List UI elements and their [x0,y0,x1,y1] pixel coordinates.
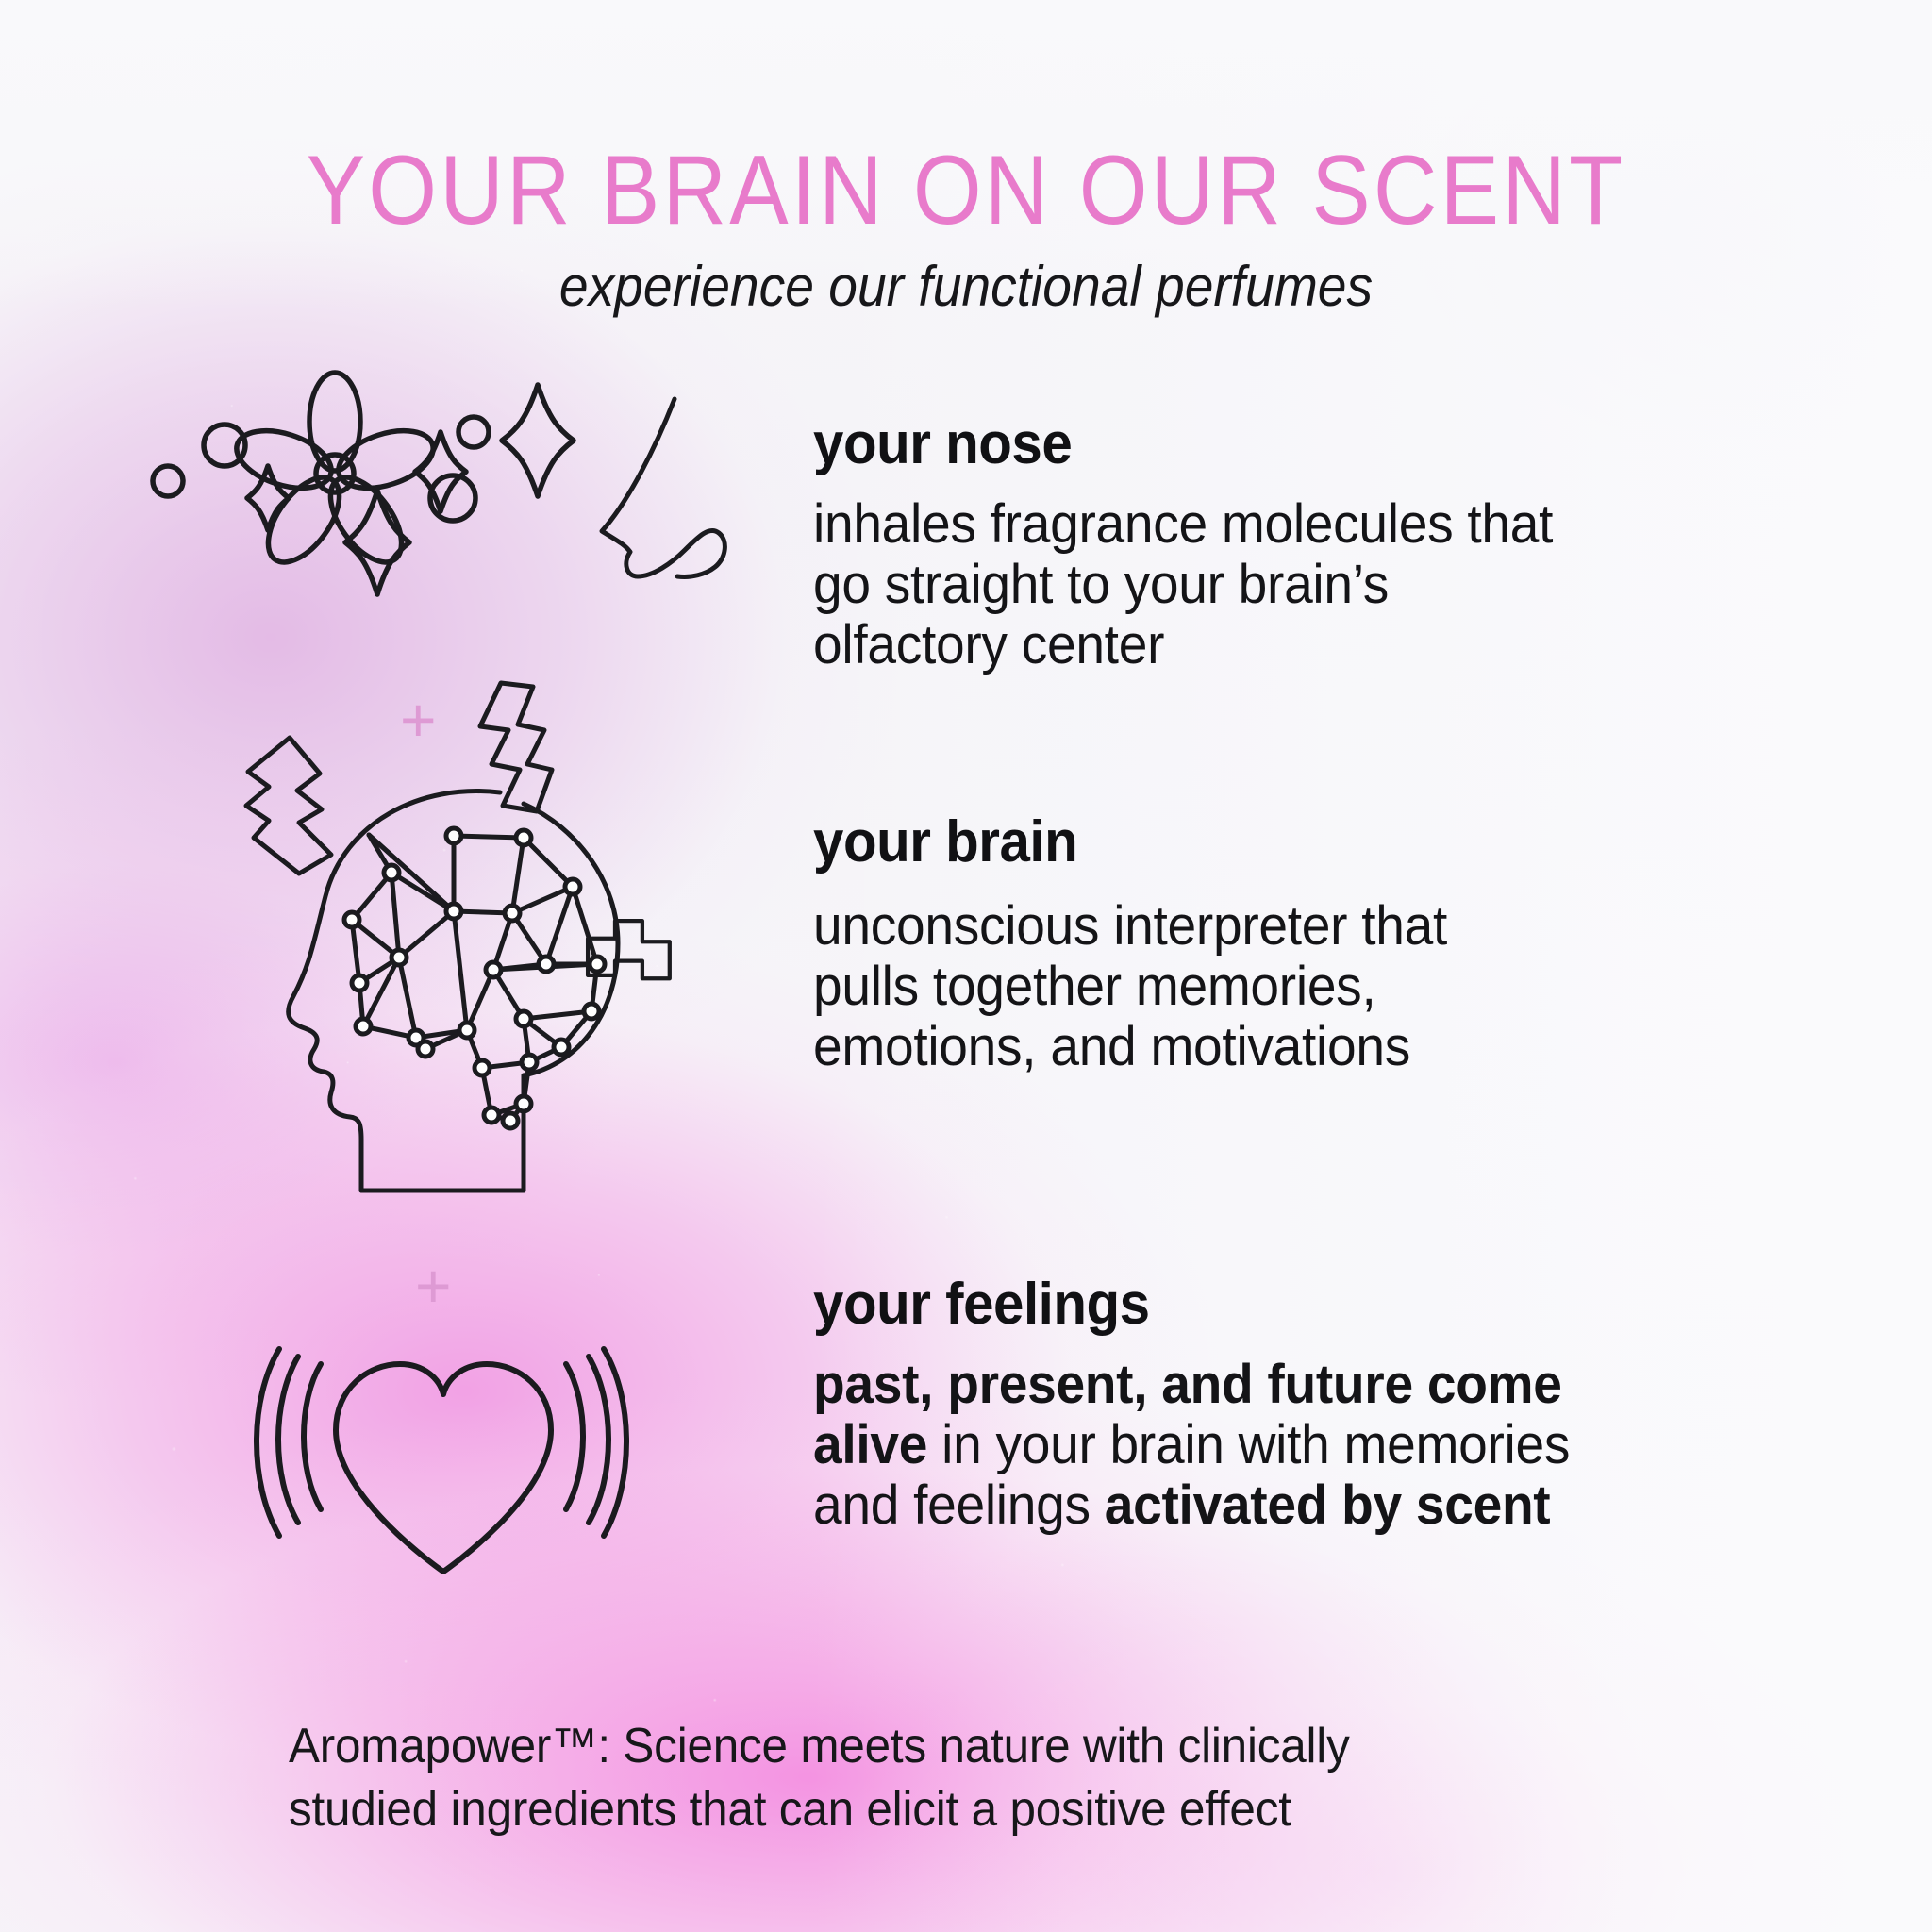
feelings-body-line-1: past, present, and future come [813,1355,1570,1415]
brain-network-nodes [344,828,605,1128]
nose-heading: your nose [813,415,1545,474]
brain-body-line-3: emotions, and motivations [813,1017,1447,1077]
nose-bridge-path [602,399,675,576]
nose-body-line-1: inhales fragrance molecules that [813,494,1553,555]
nose-body-line-2: go straight to your brain’s [813,555,1553,615]
page-subtitle: experience our functional perfumes [77,257,1855,316]
heart-outline [336,1364,551,1572]
bubble-small-1 [153,466,183,496]
page-title: YOUR BRAIN ON OUR SCENT [96,142,1835,240]
footer: Aromapower™: Science meets nature with c… [289,1715,1515,1840]
feelings-text-block: your feelings past, present, and future … [813,1275,1609,1535]
plus-separator-1: + [400,689,437,751]
pulse-arc-left-outer [304,1364,321,1509]
feelings-body: past, present, and future come alive in … [813,1355,1609,1535]
pulse-arc-left-mid [278,1357,298,1523]
nostril-path [638,530,724,576]
nose-text-block: your nose inhales fragrance molecules th… [813,415,1591,675]
feelings-body-line-3: and feelings activated by scent [813,1475,1570,1536]
feelings-body-line-2: alive in your brain with memories [813,1415,1570,1475]
lightning-bolt-left [246,738,331,874]
header: YOUR BRAIN ON OUR SCENT experience our f… [0,142,1932,316]
heart-pulse-icon [255,1343,632,1589]
face-outline [289,791,500,1191]
infographic-canvas: YOUR BRAIN ON OUR SCENT experience our f… [0,0,1932,1932]
plus-separator-2: + [415,1255,452,1317]
brain-heading: your brain [813,813,1441,872]
nose-body: inhales fragrance molecules that go stra… [813,494,1591,675]
pulse-arc-right-outer [566,1364,583,1509]
sparkle-small-mid [415,432,466,511]
feelings-heading: your feelings [813,1275,1562,1334]
pulse-arc-right-mid [589,1357,608,1523]
brain-body-line-1: unconscious interpreter that [813,896,1447,957]
footer-line-2: studied ingredients that can elicit a po… [289,1778,1454,1841]
head-network-brain-icon [241,764,656,1198]
nose-profile-icon [585,391,755,608]
bubble-small-4 [458,417,489,447]
footer-line-1: Aromapower™: Science meets nature with c… [289,1715,1454,1778]
nose-body-line-3: olfactory center [813,615,1553,675]
sparkle-large-right [502,385,574,496]
brain-body: unconscious interpreter that pulls toget… [813,896,1480,1076]
brain-text-block: your brain unconscious interpreter that … [813,813,1480,1076]
brain-body-line-2: pulls together memories, [813,957,1447,1017]
